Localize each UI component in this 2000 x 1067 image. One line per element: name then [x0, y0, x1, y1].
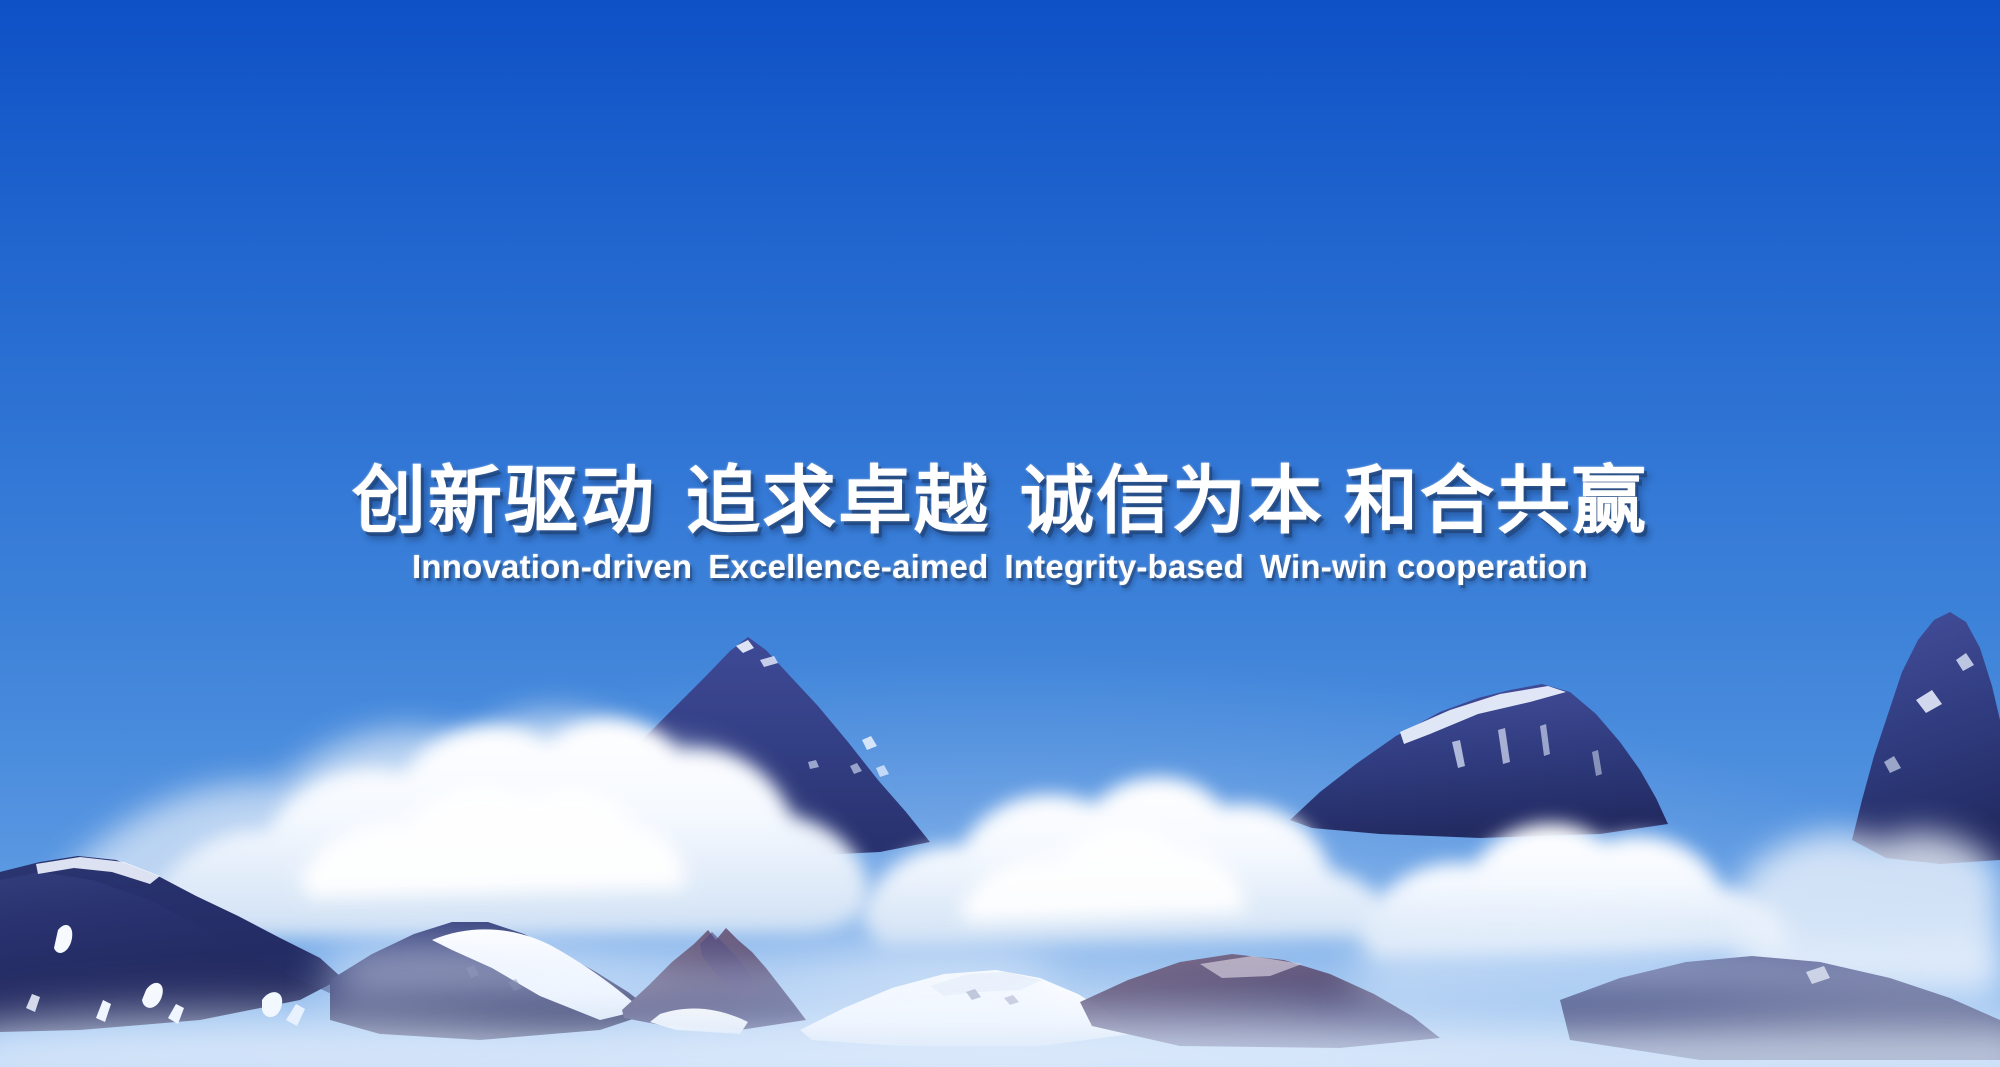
right-fog-wisps: [1360, 916, 2000, 1000]
low-mist-layer: [0, 0, 2000, 1067]
banner-hero: 创新驱动追求卓越诚信为本和合共赢 Innovation-drivenExcell…: [0, 0, 2000, 1067]
bottom-fog: [0, 989, 2000, 1067]
mid-fog-wisps: [330, 941, 1050, 1000]
